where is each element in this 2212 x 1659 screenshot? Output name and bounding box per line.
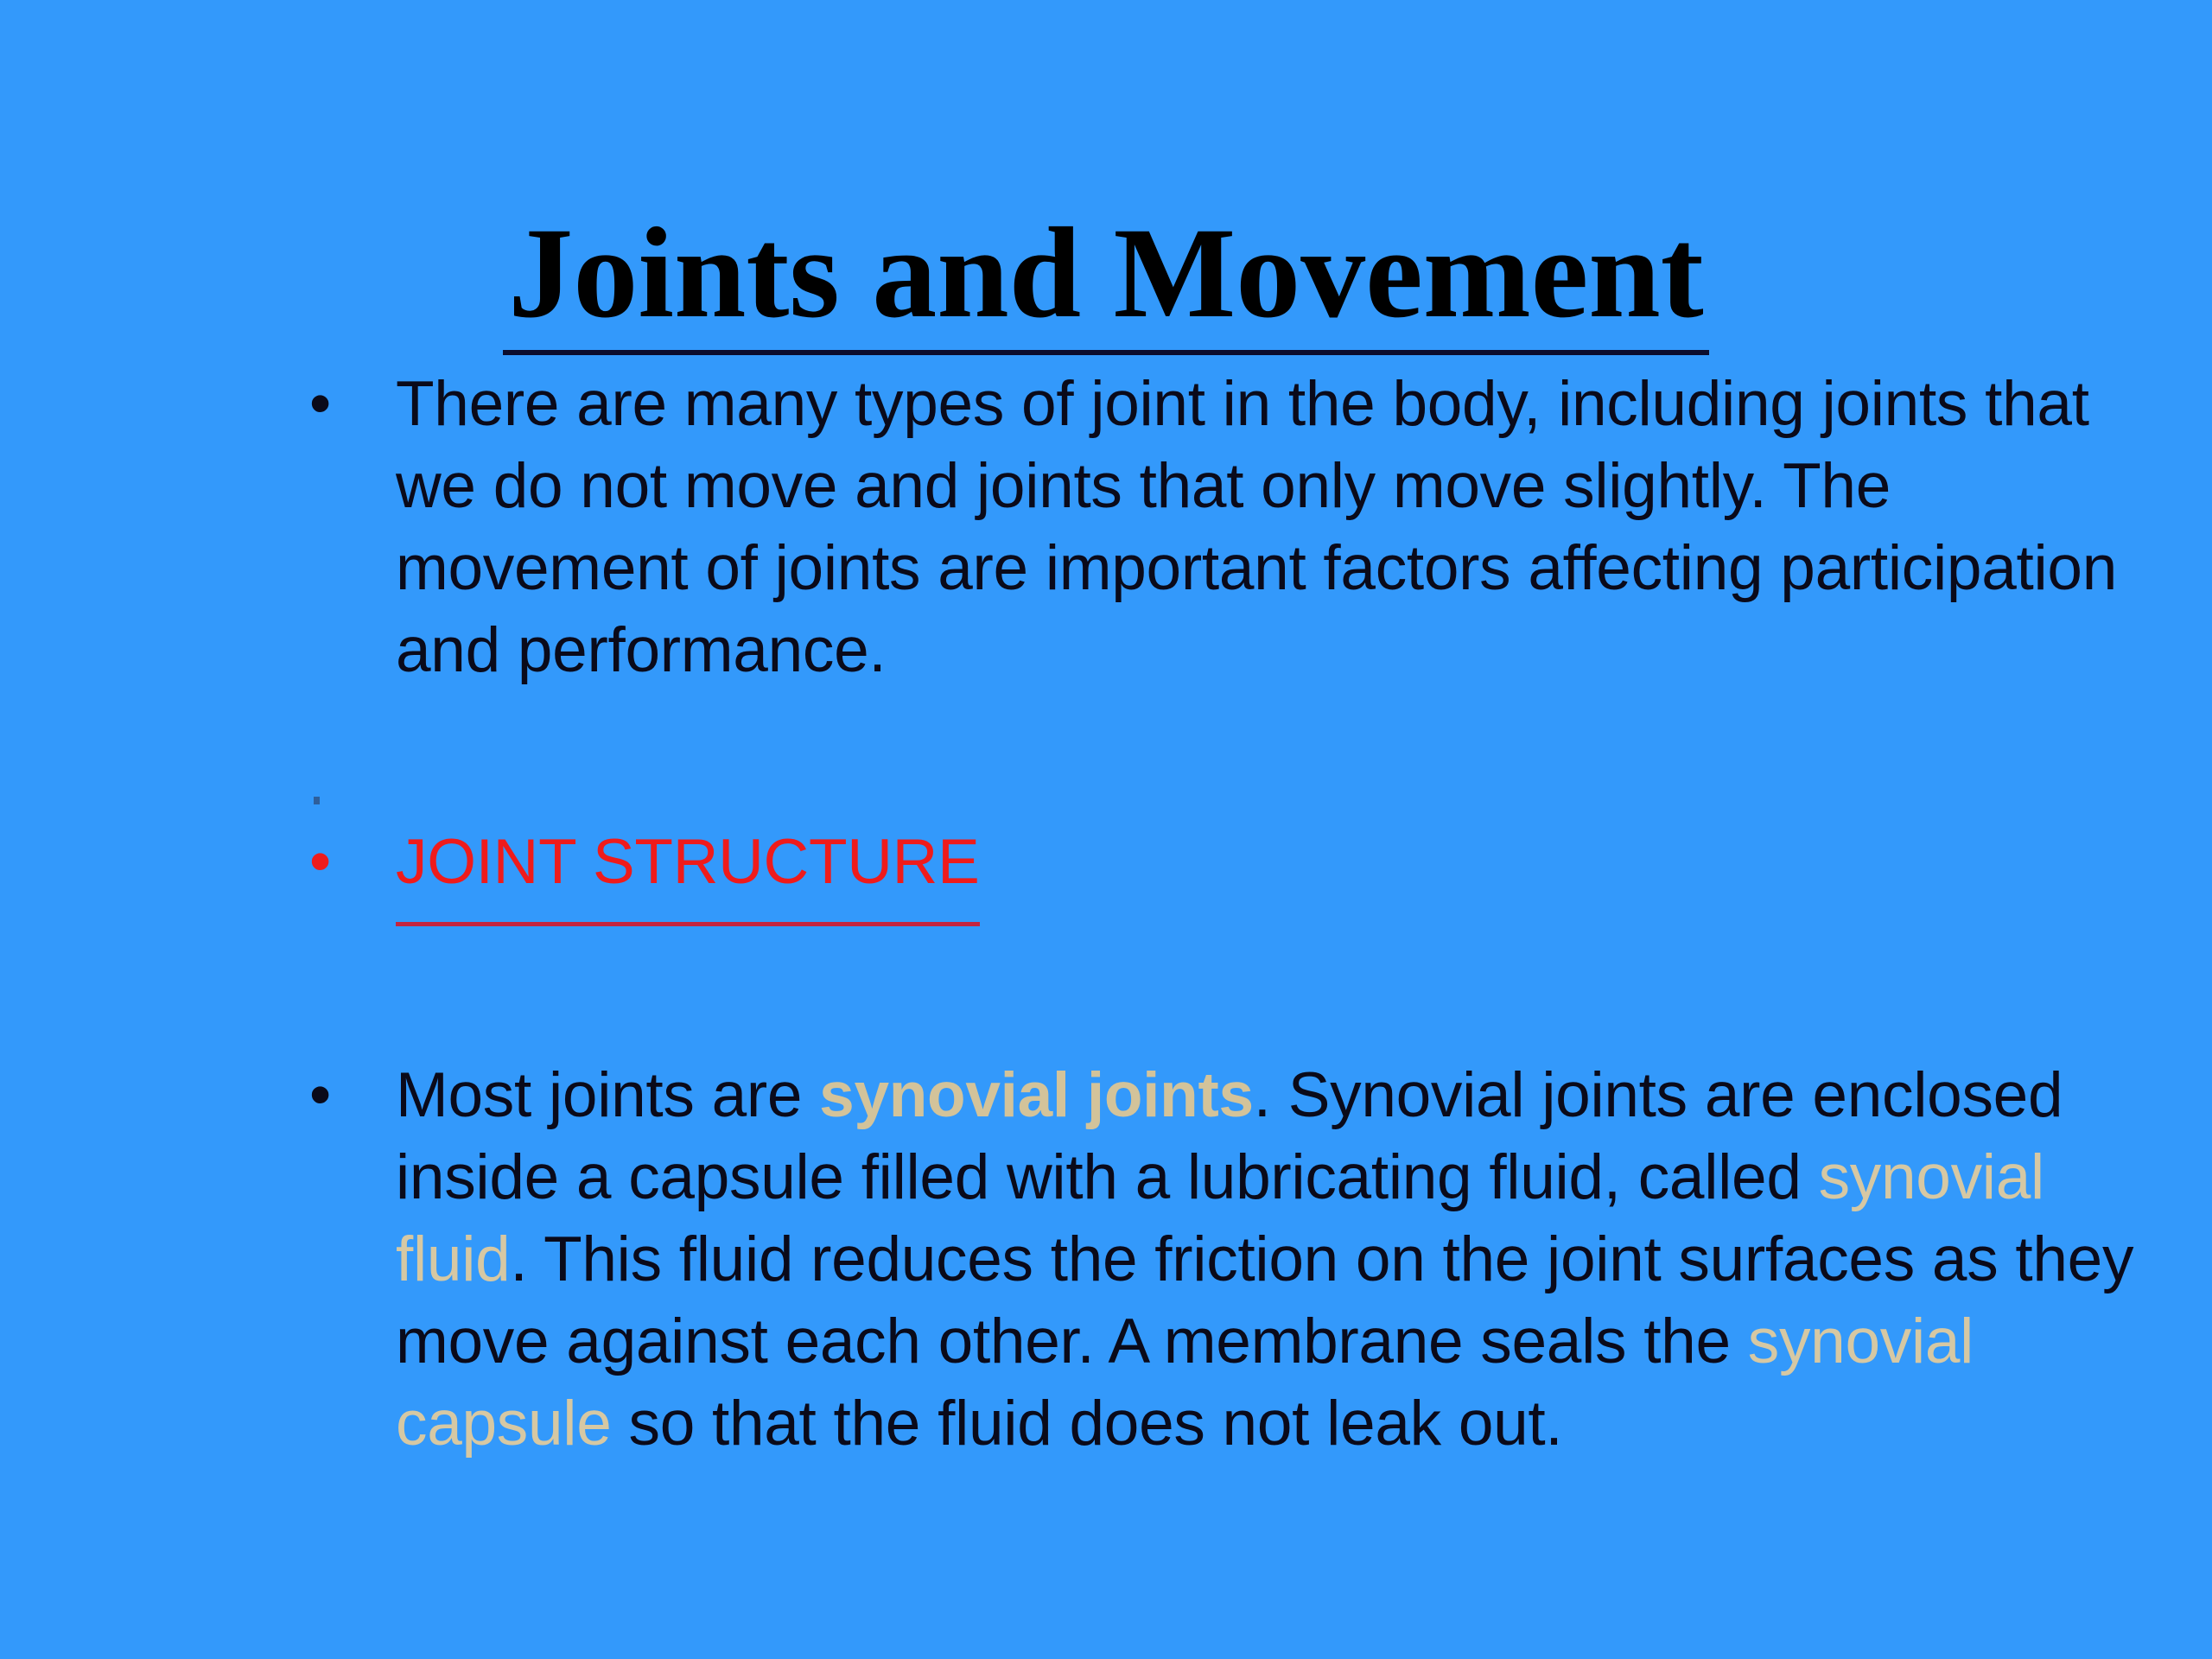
bullet-item-joint-structure: • JOINT STRUCTURE	[285, 821, 2169, 926]
presentation-slide: Joints and Movement • There are many typ…	[0, 0, 2212, 1659]
bullet-text-synovial: Most joints are synovial joints. Synovia…	[396, 1054, 2169, 1465]
bullet-spacer-one	[285, 691, 2169, 821]
bullet-item-synovial: • Most joints are synovial joints. Synov…	[285, 1054, 2169, 1465]
bullet-spacer-two	[285, 926, 2169, 1054]
segment-plain: Most joints are	[396, 1060, 819, 1130]
page-title: Joints and Movement	[503, 208, 1708, 355]
bullet-text-intro: There are many types of joint in the bod…	[396, 363, 2169, 691]
segment-plain: so that the fluid does not leak out.	[612, 1389, 1563, 1459]
bullet-marker-icon: •	[309, 1054, 331, 1136]
section-heading-joint-structure: JOINT STRUCTURE	[396, 821, 980, 926]
term-synovial-joints: synovial joints	[819, 1060, 1254, 1130]
bullet-marker-red-icon: •	[309, 821, 331, 903]
stray-mark-icon	[314, 797, 320, 804]
bullet-item-intro: • There are many types of joint in the b…	[285, 363, 2169, 691]
slide-body: • There are many types of joint in the b…	[285, 363, 2169, 1465]
bullet-marker-icon: •	[309, 363, 331, 445]
